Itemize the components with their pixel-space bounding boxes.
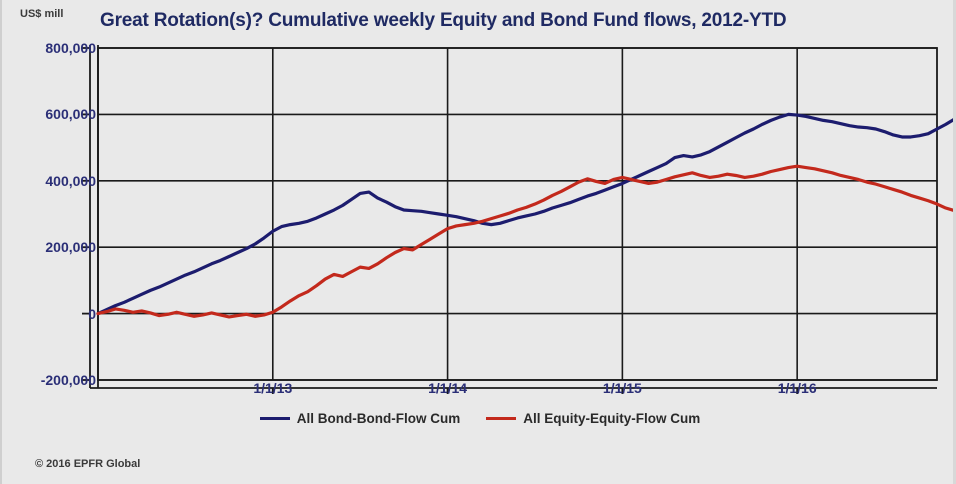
y-tick-label: 0 bbox=[88, 306, 96, 322]
legend-swatch-icon bbox=[260, 417, 290, 420]
x-tick-label: 1/1/16 bbox=[778, 380, 817, 396]
legend-entry[interactable]: All Equity-Equity-Flow Cum bbox=[486, 411, 700, 426]
legend-label: All Equity-Equity-Flow Cum bbox=[523, 411, 700, 426]
y-tick-label: -200,000 bbox=[41, 372, 96, 388]
legend-entry[interactable]: All Bond-Bond-Flow Cum bbox=[260, 411, 460, 426]
plot-background bbox=[98, 48, 937, 380]
y-tick-label: 800,000 bbox=[45, 40, 96, 56]
y-tick-label: 400,000 bbox=[45, 173, 96, 189]
footer-credit: © 2016 EPFR Global bbox=[35, 458, 140, 470]
x-tick-label: 1/1/15 bbox=[603, 380, 642, 396]
y-tick-label: 600,000 bbox=[45, 106, 96, 122]
y-tick-label: 200,000 bbox=[45, 239, 96, 255]
x-tick-label: 1/1/13 bbox=[253, 380, 292, 396]
chart-screenshot: US$ mill Great Rotation(s)? Cumulative w… bbox=[0, 0, 956, 484]
x-tick-label: 1/1/14 bbox=[428, 380, 467, 396]
legend-label: All Bond-Bond-Flow Cum bbox=[297, 411, 460, 426]
chart-legend: All Bond-Bond-Flow CumAll Equity-Equity-… bbox=[2, 411, 956, 426]
legend-swatch-icon bbox=[486, 417, 516, 420]
